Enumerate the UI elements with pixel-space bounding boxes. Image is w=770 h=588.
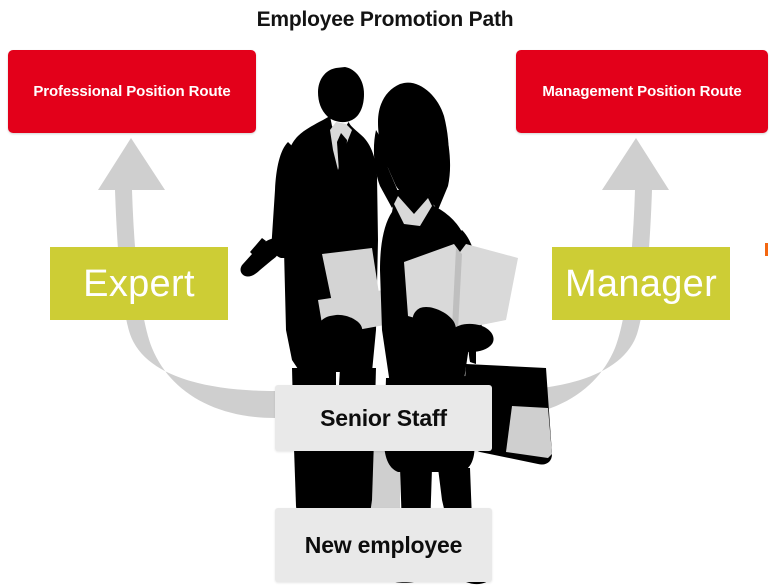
level-box-expert[interactable]: Expert	[50, 247, 228, 320]
route-box-professional[interactable]: Professional Position Route	[8, 50, 256, 133]
promotion-path-diagram: Employee Promotion Path	[0, 0, 770, 588]
level-label-expert: Expert	[83, 265, 195, 303]
stage-box-new-employee[interactable]: New employee	[275, 508, 492, 582]
stage-box-senior-staff[interactable]: Senior Staff	[275, 385, 492, 451]
boxes-layer: Professional Position Route Management P…	[0, 0, 770, 588]
level-box-manager[interactable]: Manager	[552, 247, 730, 320]
route-label-management: Management Position Route	[534, 83, 749, 100]
route-label-professional: Professional Position Route	[25, 83, 238, 100]
level-label-manager: Manager	[565, 265, 717, 303]
route-box-management[interactable]: Management Position Route	[516, 50, 768, 133]
edge-marker-icon	[765, 243, 768, 256]
stage-label-senior-staff: Senior Staff	[320, 405, 447, 432]
stage-label-new-employee: New employee	[305, 532, 462, 559]
